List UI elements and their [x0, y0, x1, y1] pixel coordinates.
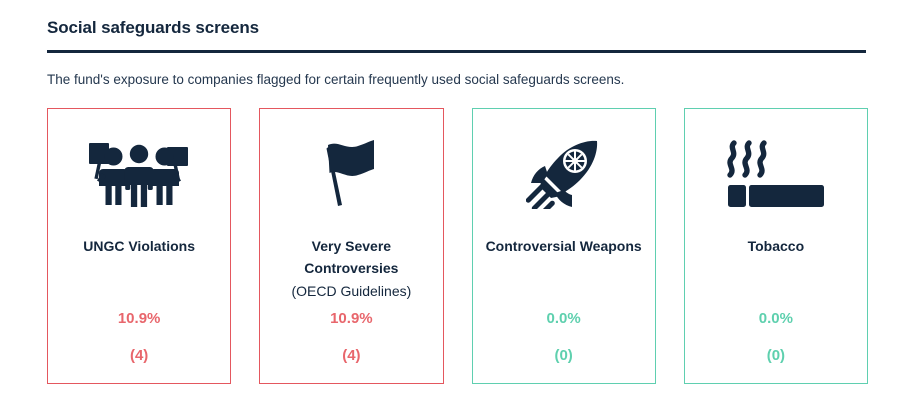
safeguard-card-tobacco[interactable]: Tobacco 0.0% (0) — [684, 108, 868, 384]
rocket-icon — [526, 135, 602, 213]
safeguard-card-controversial-weapons[interactable]: Controversial Weapons 0.0% (0) — [472, 108, 656, 384]
page-title: Social safeguards screens — [47, 18, 868, 50]
card-count: (0) — [554, 348, 572, 367]
card-title: Very Severe Controversies — [270, 235, 432, 280]
card-percentage: 0.0% — [547, 311, 581, 348]
cigarette-icon — [722, 135, 830, 213]
card-count: (4) — [130, 348, 148, 367]
social-safeguards-panel: Social safeguards screens The fund's exp… — [0, 0, 903, 384]
card-subtitle: (OECD Guidelines) — [291, 280, 411, 303]
protesters-icon — [87, 135, 191, 213]
safeguard-card-ungc-violations[interactable]: UNGC Violations 10.9% (4) — [47, 108, 231, 384]
card-percentage: 10.9% — [330, 311, 373, 348]
card-count: (4) — [342, 348, 360, 367]
card-percentage: 10.9% — [118, 311, 161, 348]
card-title: Controversial Weapons — [486, 235, 642, 258]
flag-icon — [316, 135, 386, 213]
section-description: The fund's exposure to companies flagged… — [47, 53, 868, 89]
safeguards-card-row: UNGC Violations 10.9% (4) Very Severe Co… — [47, 89, 868, 384]
card-title: UNGC Violations — [83, 235, 195, 258]
card-title: Tobacco — [748, 235, 805, 258]
card-count: (0) — [767, 348, 785, 367]
card-percentage: 0.0% — [759, 311, 793, 348]
safeguard-card-very-severe-controversies[interactable]: Very Severe Controversies (OECD Guidelin… — [259, 108, 443, 384]
